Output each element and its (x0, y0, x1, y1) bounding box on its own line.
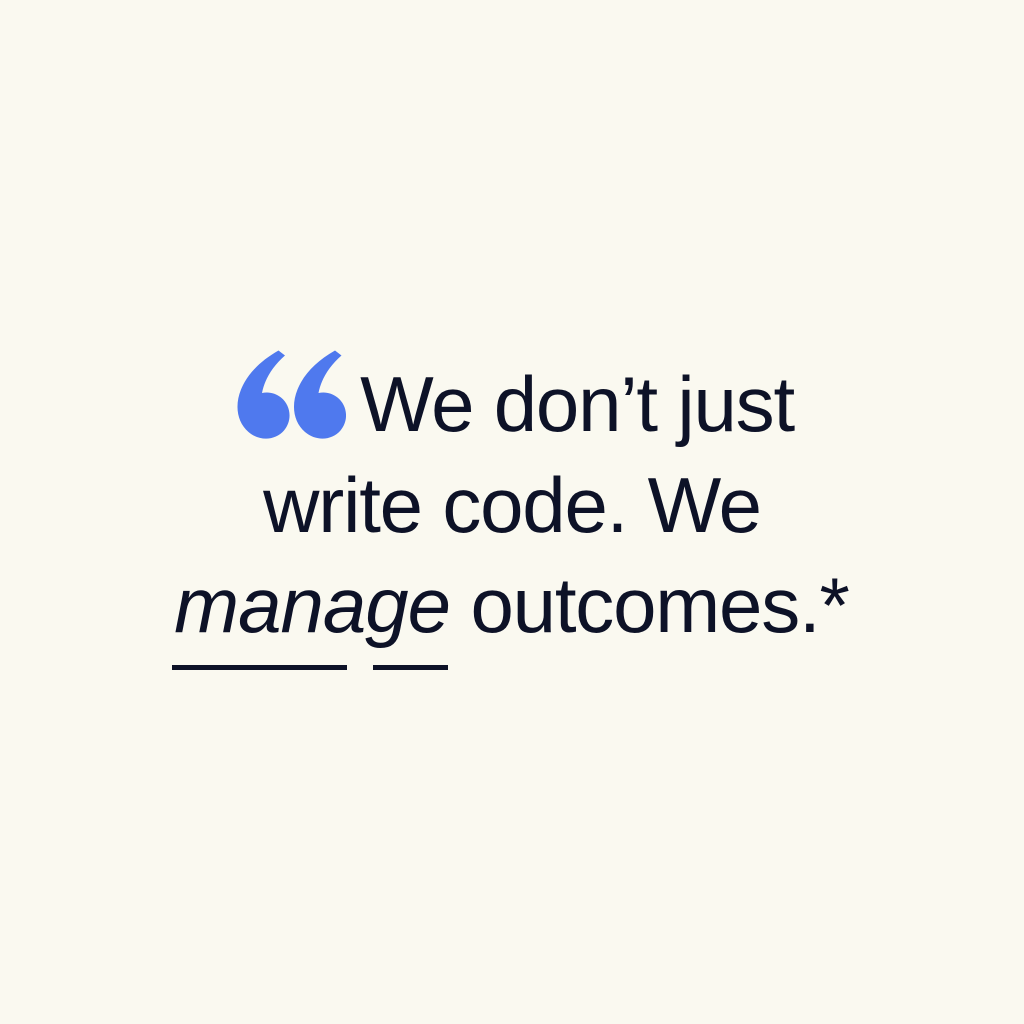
quote-card-canvas: We don’t just write code. We manage outc… (0, 0, 1024, 1024)
underline-descender-gap (347, 663, 373, 672)
quote-line-3-tail: outcomes. (450, 561, 820, 649)
quote-line-2-text: write code. We (263, 461, 761, 549)
footnote-asterisk: * (820, 561, 850, 649)
quote-card: We don’t just write code. We manage outc… (122, 354, 902, 656)
quote-line-2: write code. We (122, 455, 902, 556)
double-opening-quotation-mark-icon (230, 348, 346, 444)
quote-line-3: manage outcomes.* (122, 555, 902, 656)
emphasised-word-text: manage (174, 561, 450, 649)
quote-line-1: We don’t just (122, 354, 902, 455)
pull-quote: We don’t just write code. We manage outc… (122, 354, 902, 656)
emphasised-word-manage: manage (174, 555, 450, 656)
quote-line-1-text: We don’t just (360, 360, 794, 448)
